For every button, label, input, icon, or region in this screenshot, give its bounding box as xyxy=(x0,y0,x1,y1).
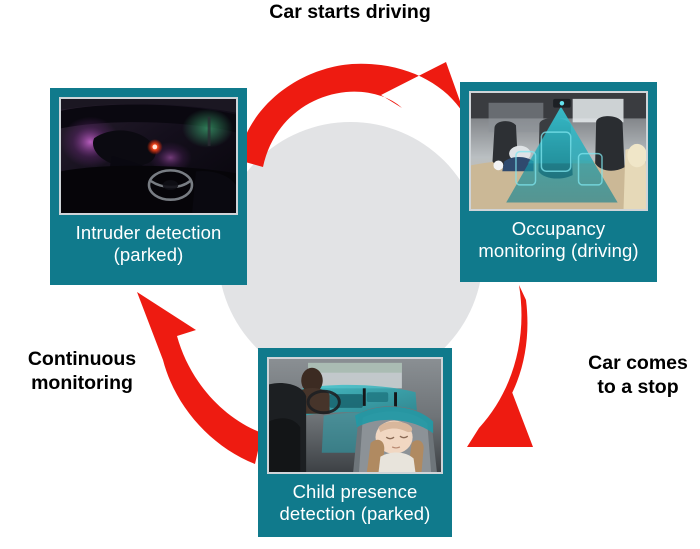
label-continuous-monitoring-line2: monitoring xyxy=(8,372,156,396)
label-continuous-monitoring-line1: Continuous xyxy=(8,348,156,372)
card-child-presence-detection[interactable]: Child presence detection (parked) xyxy=(258,348,452,537)
card-intruder-caption-line2: (parked) xyxy=(59,244,238,266)
card-child-caption: Child presence detection (parked) xyxy=(267,474,443,525)
card-child-caption-line2: detection (parked) xyxy=(267,503,443,525)
card-occupancy-caption: Occupancy monitoring (driving) xyxy=(469,211,648,262)
card-occupancy-photo xyxy=(469,91,648,211)
cabin-sensing-illustration xyxy=(471,93,646,210)
label-continuous-monitoring: Continuous monitoring xyxy=(8,348,156,396)
card-intruder-caption: Intruder detection (parked) xyxy=(59,215,238,266)
card-child-caption-line1: Child presence xyxy=(267,481,443,503)
arrow-top xyxy=(238,62,466,167)
label-car-comes-to-a-stop: Car comes to a stop xyxy=(576,352,700,400)
arrow-right xyxy=(467,285,533,447)
label-car-comes-to-a-stop-line1: Car comes xyxy=(576,352,700,376)
card-occupancy-caption-line1: Occupancy xyxy=(469,218,648,240)
label-car-starts-driving-text: Car starts driving xyxy=(269,1,430,23)
night-intrusion-illustration xyxy=(61,99,236,214)
label-car-comes-to-a-stop-line2: to a stop xyxy=(576,376,700,400)
child-in-seat-illustration xyxy=(269,359,441,473)
card-child-photo xyxy=(267,357,443,474)
card-intruder-caption-line1: Intruder detection xyxy=(59,222,238,244)
diagram-canvas: Intruder detection (parked) xyxy=(0,0,700,549)
label-car-starts-driving: Car starts driving xyxy=(0,1,700,25)
card-occupancy-monitoring[interactable]: Occupancy monitoring (driving) xyxy=(460,82,657,282)
card-occupancy-caption-line2: monitoring (driving) xyxy=(469,240,648,262)
card-intruder-detection[interactable]: Intruder detection (parked) xyxy=(50,88,247,285)
card-intruder-photo xyxy=(59,97,238,215)
